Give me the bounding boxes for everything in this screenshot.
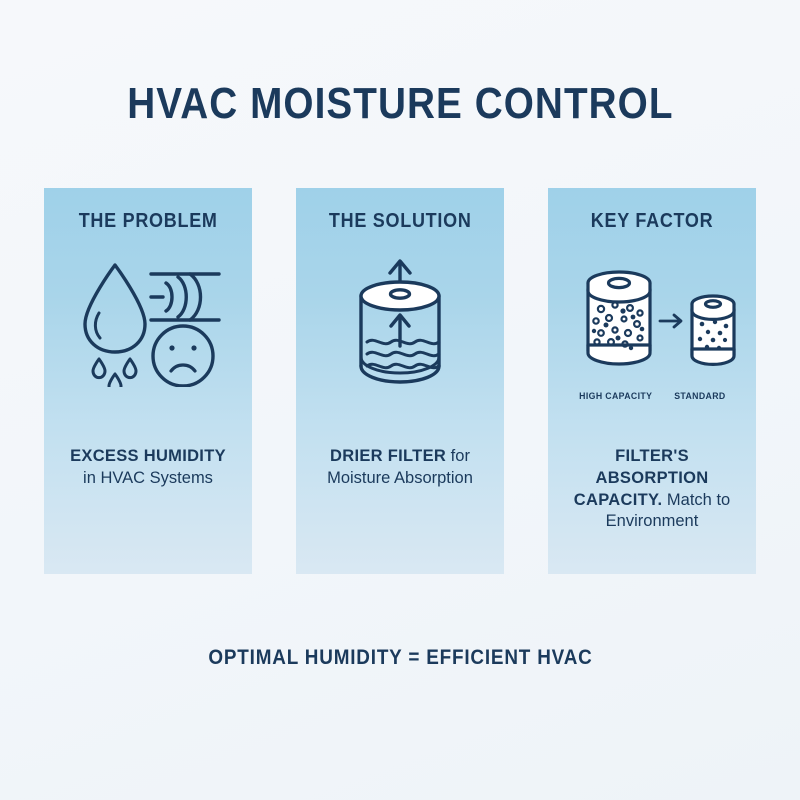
caption-line-1: DRIER FILTER for <box>306 446 494 468</box>
cards-row: THE PROBLEM <box>44 188 756 574</box>
card-key-factor: KEY FACTOR <box>548 188 756 574</box>
infographic-poster: HVAC MOISTURE CONTROL THE PROBLEM <box>0 0 800 800</box>
card-heading: THE PROBLEM <box>79 210 218 233</box>
card-caption: DRIER FILTER for Moisture Absorption <box>306 446 494 490</box>
two-filter-cartridges-comparison-icon <box>568 253 736 389</box>
card-heading: THE SOLUTION <box>329 210 472 233</box>
footer-tagline: OPTIMAL HUMIDITY = EFFICIENT HVAC <box>208 646 592 670</box>
card-heading: KEY FACTOR <box>591 210 714 233</box>
caption-light: for <box>446 447 470 465</box>
label-high-capacity: HIGH CAPACITY <box>580 391 653 402</box>
page-title: HVAC MOISTURE CONTROL <box>127 82 673 126</box>
card-the-solution: THE SOLUTION <box>296 188 504 574</box>
caption-line-2: Moisture Absorption <box>306 468 494 490</box>
caption-strong: EXCESS HUMIDITY <box>54 446 242 468</box>
cartridge-labels: HIGH CAPACITY STANDARD <box>562 391 742 402</box>
caption-strong: DRIER FILTER <box>330 447 446 465</box>
drier-filter-cylinder-icon <box>335 253 465 389</box>
card-caption: EXCESS HUMIDITY in HVAC Systems <box>54 446 242 490</box>
caption-light: in HVAC Systems <box>54 468 242 490</box>
card-the-problem: THE PROBLEM <box>44 188 252 574</box>
water-droplet-humidity-waves-sad-face-icon <box>73 253 223 389</box>
label-standard: STANDARD <box>674 391 725 402</box>
card-caption: FILTER'S ABSORPTION CAPACITY. Match to E… <box>558 446 746 533</box>
